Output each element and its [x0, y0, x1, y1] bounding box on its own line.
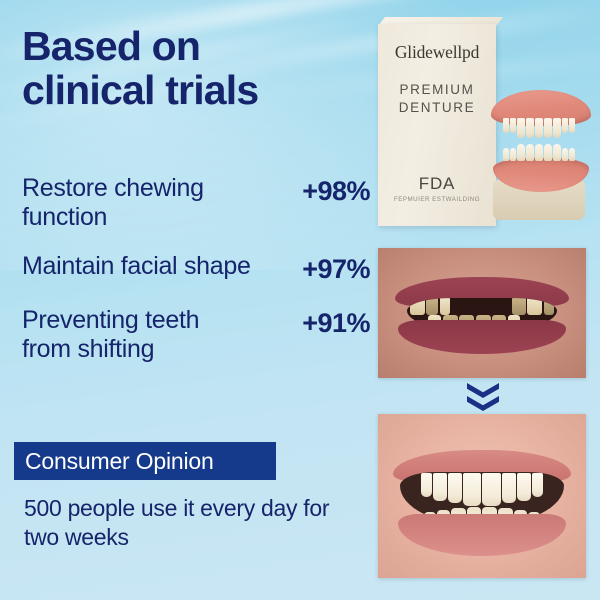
list-item: Maintain facial shape +97% — [22, 252, 370, 285]
denture-lower-teeth — [485, 144, 593, 161]
feature-percentage: +97% — [302, 252, 370, 285]
before-mouth — [395, 277, 570, 350]
consumer-opinion-body: 500 people use it every day for two week… — [24, 494, 354, 552]
before-photo — [378, 248, 586, 378]
consumer-opinion-band: Consumer Opinion — [14, 442, 276, 480]
upper-teeth-arch — [400, 472, 565, 506]
after-photo — [378, 414, 586, 578]
feature-percentage: +91% — [302, 306, 370, 339]
page-title: Based onclinical trials — [22, 24, 362, 113]
product-line-premium: PREMIUM — [386, 82, 488, 97]
feature-percentage: +98% — [302, 174, 370, 207]
denture-upper-teeth — [485, 118, 593, 138]
product-certification-label: FDA — [378, 174, 496, 194]
product-brand-name: Glidewellpd — [386, 42, 488, 63]
feature-label: Preventing teeth from shifting — [22, 306, 254, 363]
feature-label: Maintain facial shape — [22, 252, 254, 281]
infographic-poster: Based onclinical trials Restore chewing … — [0, 0, 600, 600]
double-chevron-down-icon — [467, 383, 499, 411]
list-item: Preventing teeth from shifting +91% — [22, 306, 370, 363]
product-line-denture: DENTURE — [386, 100, 488, 115]
lower-lip — [398, 320, 566, 353]
product-box: Glidewellpd PREMIUM DENTURE FDA FEPMUIER… — [378, 24, 496, 226]
consumer-opinion-label: Consumer Opinion — [14, 448, 214, 475]
feature-label: Restore chewing function — [22, 174, 254, 231]
feature-stat-list: Restore chewing function +98% Maintain f… — [22, 174, 370, 384]
denture-model-image — [485, 88, 593, 220]
list-item: Restore chewing function +98% — [22, 174, 370, 231]
after-mouth — [393, 453, 572, 545]
product-fine-print: FEPMUIER ESTWAILDING — [378, 196, 496, 203]
